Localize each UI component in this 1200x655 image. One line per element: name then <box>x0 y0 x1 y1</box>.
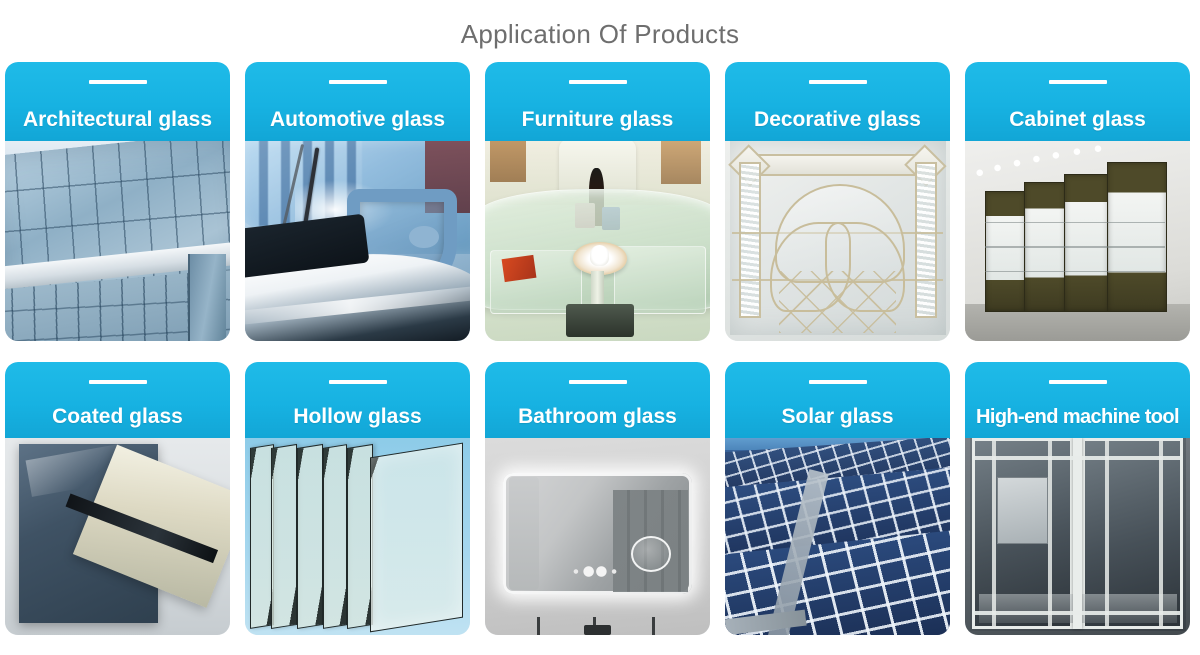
card-header: Solar glass <box>725 362 950 438</box>
product-card-architectural-glass[interactable]: Architectural glass <box>5 62 230 341</box>
product-card-coated-glass[interactable]: Coated glass <box>5 362 230 635</box>
header-divider-icon <box>89 80 147 84</box>
product-card-furniture-glass[interactable]: Furniture glass <box>485 62 710 341</box>
application-of-products-page: Application Of Products Architectural gl… <box>0 0 1200 655</box>
card-photo-bathroom-glass <box>485 432 710 635</box>
product-card-bathroom-glass[interactable]: Bathroom glass <box>485 362 710 635</box>
hollow-glass-image <box>245 432 470 635</box>
card-title: Decorative glass <box>725 107 950 133</box>
product-card-automotive-glass[interactable]: Automotive glass <box>245 62 470 341</box>
header-divider-icon <box>809 380 867 384</box>
card-header: Architectural glass <box>5 62 230 141</box>
header-divider-icon <box>1049 80 1107 84</box>
card-photo-hollow-glass <box>245 432 470 635</box>
high-end-machine-tool-image <box>965 432 1190 635</box>
product-application-grid: Architectural glass Automotive glass <box>5 62 1195 635</box>
card-photo-cabinet-glass <box>965 135 1190 341</box>
header-divider-icon <box>569 380 627 384</box>
bathroom-glass-image <box>485 432 710 635</box>
card-photo-furniture-glass <box>485 135 710 341</box>
card-header: Decorative glass <box>725 62 950 141</box>
header-divider-icon <box>1049 380 1107 384</box>
product-card-hollow-glass[interactable]: Hollow glass <box>245 362 470 635</box>
card-header: Coated glass <box>5 362 230 438</box>
product-card-high-end-machine-tool[interactable]: High-end machine tool <box>965 362 1190 635</box>
card-title: Solar glass <box>725 404 950 430</box>
card-header: Cabinet glass <box>965 62 1190 141</box>
card-photo-automotive-glass <box>245 135 470 341</box>
architectural-glass-image <box>5 135 230 341</box>
coated-glass-image <box>5 432 230 635</box>
card-photo-architectural-glass <box>5 135 230 341</box>
card-title: High-end machine tool <box>965 404 1190 430</box>
automotive-glass-image <box>245 135 470 341</box>
card-header: Automotive glass <box>245 62 470 141</box>
decorative-glass-image <box>725 135 950 341</box>
cabinet-glass-image <box>965 135 1190 341</box>
page-title: Application Of Products <box>0 18 1200 50</box>
header-divider-icon <box>89 380 147 384</box>
card-photo-high-end-machine-tool <box>965 432 1190 635</box>
card-photo-coated-glass <box>5 432 230 635</box>
product-card-cabinet-glass[interactable]: Cabinet glass <box>965 62 1190 341</box>
solar-glass-image <box>725 432 950 635</box>
card-title: Furniture glass <box>485 107 710 133</box>
card-title: Automotive glass <box>245 107 470 133</box>
product-card-decorative-glass[interactable]: Decorative glass <box>725 62 950 341</box>
card-header: Hollow glass <box>245 362 470 438</box>
header-divider-icon <box>809 80 867 84</box>
card-title: Hollow glass <box>245 404 470 430</box>
card-header: Furniture glass <box>485 62 710 141</box>
card-header: Bathroom glass <box>485 362 710 438</box>
card-title: Bathroom glass <box>485 404 710 430</box>
card-photo-solar-glass <box>725 432 950 635</box>
card-header: High-end machine tool <box>965 362 1190 438</box>
header-divider-icon <box>569 80 627 84</box>
header-divider-icon <box>329 380 387 384</box>
header-divider-icon <box>329 80 387 84</box>
furniture-glass-image <box>485 135 710 341</box>
product-card-solar-glass[interactable]: Solar glass <box>725 362 950 635</box>
card-title: Cabinet glass <box>965 107 1190 133</box>
card-title: Architectural glass <box>5 107 230 133</box>
card-title: Coated glass <box>5 404 230 430</box>
card-photo-decorative-glass <box>725 135 950 341</box>
